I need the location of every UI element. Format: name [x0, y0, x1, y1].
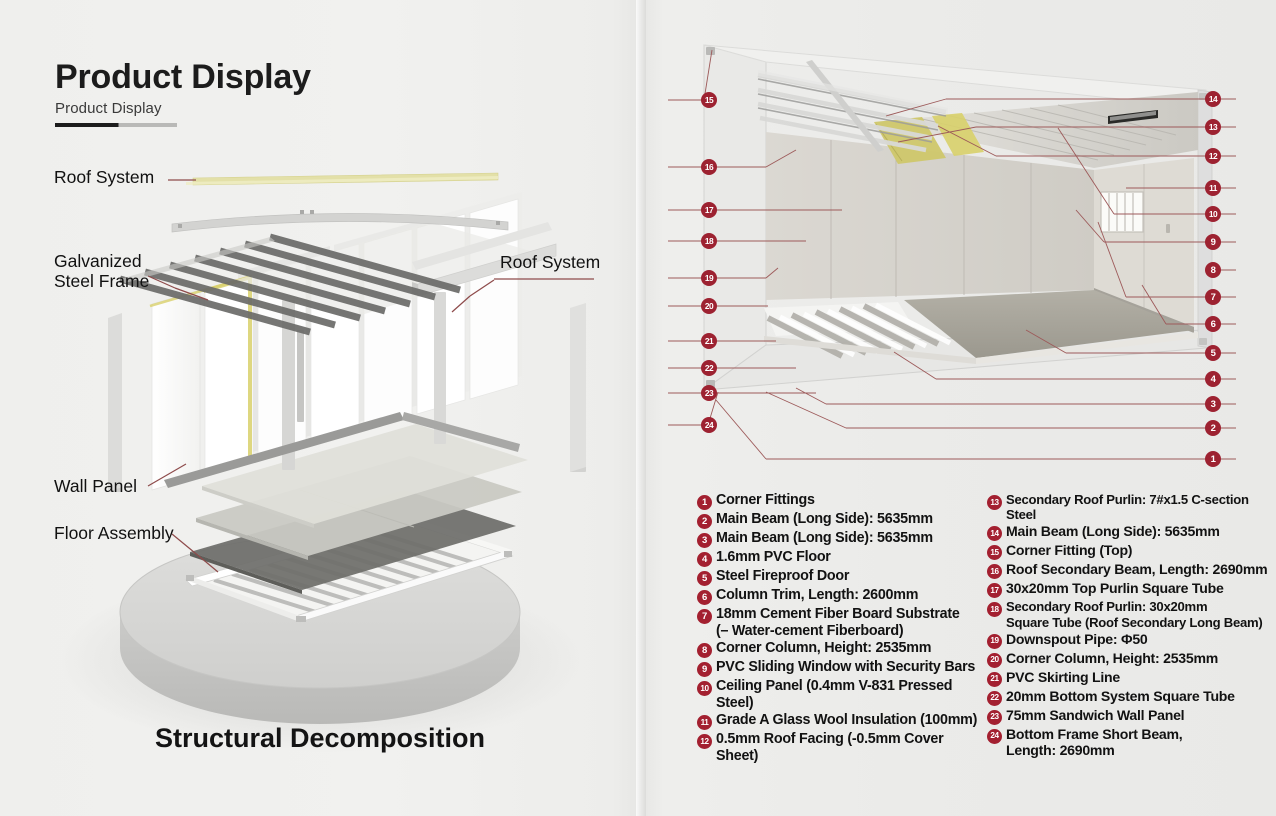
legend-number-badge: 6	[697, 590, 712, 605]
legend-item: 15Corner Fitting (Top)	[987, 542, 1269, 560]
legend-item-label: Ceiling Panel (0.4mm V-831 Pressed Steel…	[716, 678, 979, 711]
legend-number-badge: 23	[987, 710, 1002, 725]
callout-badge-20[interactable]: 20	[701, 298, 717, 314]
legend-item: 9PVC Sliding Window with Security Bars	[697, 659, 979, 677]
callout-badge-21[interactable]: 21	[701, 333, 717, 349]
legend-column-right: 13Secondary Roof Purlin: 7#x1.5 C-sectio…	[987, 492, 1269, 792]
legend-item-label: Steel Fireproof Door	[716, 568, 849, 585]
legend-item-label: 75mm Sandwich Wall Panel	[1006, 707, 1184, 723]
legend-item: 1Corner Fittings	[697, 492, 979, 510]
legend-item-label: Main Beam (Long Side): 5635mm	[716, 511, 933, 528]
callout-badge-9[interactable]: 9	[1205, 234, 1221, 250]
container-cutaway-panel: 15 16 17 18 19 20 21 22 23 24 14 13 12 1…	[646, 0, 1276, 480]
callout-badge-18[interactable]: 18	[701, 233, 717, 249]
legend-number-badge: 18	[987, 602, 1002, 617]
door-handle	[1166, 224, 1170, 233]
legend-item: 13Secondary Roof Purlin: 7#x1.5 C-sectio…	[987, 492, 1269, 522]
callout-badge-11[interactable]: 11	[1205, 180, 1221, 196]
parts-legend: 1Corner Fittings2Main Beam (Long Side): …	[697, 492, 1269, 792]
legend-number-badge: 19	[987, 634, 1002, 649]
legend-number-badge: 14	[987, 526, 1002, 541]
legend-item-label: Secondary Roof Purlin: 7#x1.5 C-section …	[1006, 492, 1269, 522]
legend-item-label: Main Beam (Long Side): 5635mm	[1006, 523, 1220, 539]
legend-item: 1730x20mm Top Purlin Square Tube	[987, 580, 1269, 598]
legend-item-label: Grade A Glass Wool Insulation (100mm)	[716, 712, 977, 729]
callout-badge-19[interactable]: 19	[701, 270, 717, 286]
legend-number-badge: 2	[697, 514, 712, 529]
legend-item-label: Roof Secondary Beam, Length: 2690mm	[1006, 561, 1267, 577]
exploded-view-illustration	[0, 0, 640, 816]
legend-item: 24Bottom Frame Short Beam, Length: 2690m…	[987, 726, 1269, 759]
legend-number-badge: 7	[697, 609, 712, 624]
legend-item: 14Main Beam (Long Side): 5635mm	[987, 523, 1269, 541]
callout-badge-24[interactable]: 24	[701, 417, 717, 433]
legend-item-label: Corner Fitting (Top)	[1006, 542, 1132, 558]
legend-item: 2220mm Bottom System Square Tube	[987, 688, 1269, 706]
legend-item: 19Downspout Pipe: Φ50	[987, 631, 1269, 649]
legend-item: 3Main Beam (Long Side): 5635mm	[697, 530, 979, 548]
callout-badge-23[interactable]: 23	[701, 385, 717, 401]
legend-number-badge: 22	[987, 691, 1002, 706]
legend-item: 120.5mm Roof Facing (-0.5mm Cover Sheet)	[697, 731, 979, 764]
callout-badge-4[interactable]: 4	[1205, 371, 1221, 387]
legend-item-label: Corner Column, Height: 2535mm	[716, 640, 931, 657]
pvc-sliding-window	[1101, 192, 1143, 232]
legend-item: 2375mm Sandwich Wall Panel	[987, 707, 1269, 725]
legend-item: 718mm Cement Fiber Board Substrate (– Wa…	[697, 606, 979, 639]
legend-number-badge: 17	[987, 583, 1002, 598]
legend-item-label: Column Trim, Length: 2600mm	[716, 587, 918, 604]
label-roof-system-right: Roof System	[500, 253, 600, 273]
callout-badge-15[interactable]: 15	[701, 92, 717, 108]
legend-number-badge: 20	[987, 653, 1002, 668]
legend-item-label: 0.5mm Roof Facing (-0.5mm Cover Sheet)	[716, 731, 979, 764]
callout-badge-12[interactable]: 12	[1205, 148, 1221, 164]
legend-number-badge: 8	[697, 643, 712, 658]
structural-decomposition-caption: Structural Decomposition	[0, 723, 640, 754]
legend-number-badge: 3	[697, 533, 712, 548]
callout-badge-22[interactable]: 22	[701, 360, 717, 376]
callout-badge-8[interactable]: 8	[1205, 262, 1221, 278]
legend-item: 18Secondary Roof Purlin: 30x20mm Square …	[987, 599, 1269, 629]
callout-badge-13[interactable]: 13	[1205, 119, 1221, 135]
callout-badge-5[interactable]: 5	[1205, 345, 1221, 361]
legend-item-label: 1.6mm PVC Floor	[716, 549, 831, 566]
legend-item-label: Corner Column, Height: 2535mm	[1006, 650, 1218, 666]
legend-number-badge: 16	[987, 564, 1002, 579]
callout-badge-1[interactable]: 1	[1205, 451, 1221, 467]
legend-number-badge: 12	[697, 734, 712, 749]
callout-badge-17[interactable]: 17	[701, 202, 717, 218]
legend-item: 21PVC Skirting Line	[987, 669, 1269, 687]
legend-number-badge: 10	[697, 681, 712, 696]
callout-badge-6[interactable]: 6	[1205, 316, 1221, 332]
legend-number-badge: 4	[697, 552, 712, 567]
legend-number-badge: 9	[697, 662, 712, 677]
callout-badge-10[interactable]: 10	[1205, 206, 1221, 222]
legend-item: 41.6mm PVC Floor	[697, 549, 979, 567]
legend-item-label: Main Beam (Long Side): 5635mm	[716, 530, 933, 547]
legend-number-badge: 15	[987, 545, 1002, 560]
roof-facing-layer	[186, 173, 498, 185]
legend-item-label: PVC Skirting Line	[1006, 669, 1120, 685]
legend-item-label: Bottom Frame Short Beam, Length: 2690mm	[1006, 726, 1182, 759]
legend-item: 11Grade A Glass Wool Insulation (100mm)	[697, 712, 979, 730]
label-floor-assembly: Floor Assembly	[54, 524, 174, 544]
legend-item: 2Main Beam (Long Side): 5635mm	[697, 511, 979, 529]
legend-item-label: 18mm Cement Fiber Board Substrate (– Wat…	[716, 606, 960, 639]
legend-column-left: 1Corner Fittings2Main Beam (Long Side): …	[697, 492, 979, 792]
legend-item-label: Corner Fittings	[716, 492, 815, 509]
legend-item: 8Corner Column, Height: 2535mm	[697, 640, 979, 658]
legend-number-badge: 24	[987, 729, 1002, 744]
legend-item-label: Secondary Roof Purlin: 30x20mm Square Tu…	[1006, 599, 1263, 629]
label-roof-system-left: Roof System	[54, 168, 154, 188]
legend-item: 10Ceiling Panel (0.4mm V-831 Pressed Ste…	[697, 678, 979, 711]
legend-number-badge: 11	[697, 715, 712, 730]
label-galvanized-steel-frame: Galvanized Steel Frame	[54, 252, 149, 291]
legend-item: 20Corner Column, Height: 2535mm	[987, 650, 1269, 668]
exploded-view-panel: Roof System Galvanized Steel Frame Wall …	[0, 0, 640, 816]
legend-item: 16Roof Secondary Beam, Length: 2690mm	[987, 561, 1269, 579]
legend-item: 6Column Trim, Length: 2600mm	[697, 587, 979, 605]
callout-badge-3[interactable]: 3	[1205, 396, 1221, 412]
legend-item-label: 30x20mm Top Purlin Square Tube	[1006, 580, 1224, 596]
callout-badge-16[interactable]: 16	[701, 159, 717, 175]
product-display-page: Product Display Product Display	[0, 0, 1276, 816]
callout-badge-7[interactable]: 7	[1205, 289, 1221, 305]
legend-item-label: PVC Sliding Window with Security Bars	[716, 659, 975, 676]
callout-badge-2[interactable]: 2	[1205, 420, 1221, 436]
legend-number-badge: 21	[987, 672, 1002, 687]
container-cutaway-illustration	[646, 0, 1276, 480]
legend-number-badge: 1	[697, 495, 712, 510]
legend-number-badge: 13	[987, 495, 1002, 510]
legend-item-label: 20mm Bottom System Square Tube	[1006, 688, 1235, 704]
legend-number-badge: 5	[697, 571, 712, 586]
legend-item: 5Steel Fireproof Door	[697, 568, 979, 586]
label-wall-panel: Wall Panel	[54, 477, 137, 497]
callout-badge-14[interactable]: 14	[1205, 91, 1221, 107]
legend-item-label: Downspout Pipe: Φ50	[1006, 631, 1148, 647]
